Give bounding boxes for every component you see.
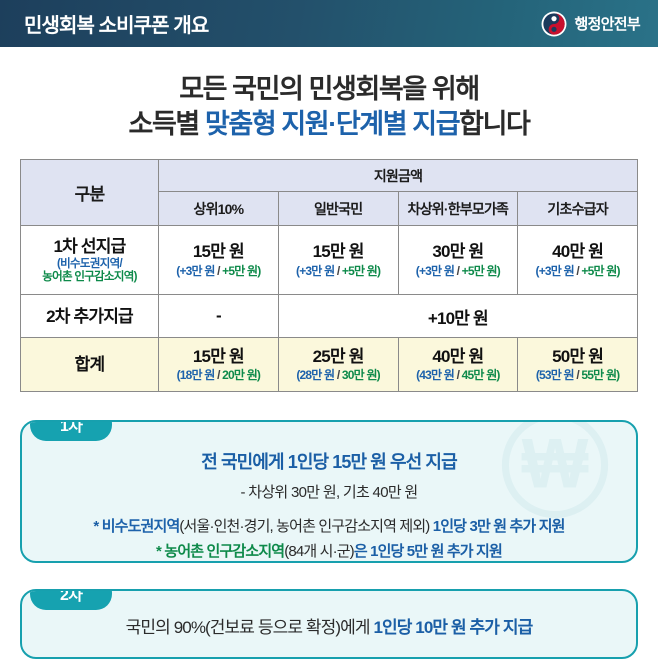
cell-bonus-green: 20만 원)	[222, 368, 260, 382]
cell-bonus-sep: /	[454, 264, 462, 278]
payout-table-wrapper: 구분 지원금액 상위10% 일반국민 차상위·한부모가족 기초수급자 1차 선지…	[20, 159, 638, 392]
cell-bonus-blue: (18만 원	[177, 368, 215, 382]
cell-first-payment-3: 40만 원 (+3만 원 / +5만 원)	[518, 226, 638, 295]
cell-bonus-sep: /	[334, 368, 342, 382]
cell-bonus-green: +5만 원)	[581, 264, 619, 278]
cell-bonus-blue: (+3만 원	[416, 264, 454, 278]
cell-amount: 40만 원	[400, 347, 517, 367]
table-head: 구분 지원금액 상위10% 일반국민 차상위·한부모가족 기초수급자	[21, 160, 638, 226]
row-label-total: 합계	[21, 338, 159, 392]
cell-second-payment-0: -	[159, 295, 279, 338]
cell-amount: 40만 원	[519, 242, 636, 262]
cell-bonus: (53만 원 / 55만 원)	[519, 368, 636, 382]
note-2-region: 농어촌 인구감소지역	[161, 543, 284, 560]
cell-bonus: (+3만 원 / +5만 원)	[400, 264, 517, 278]
table-body: 1차 선지급 (비수도권지역/ 농어촌 인구감소지역) 15만 원 (+3만 원…	[21, 226, 638, 392]
ministry-name: 행정안전부	[574, 13, 640, 34]
table-row-total: 합계 15만 원 (18만 원 / 20만 원) 25만 원 (28만 원 / …	[21, 338, 638, 392]
cell-bonus-blue: (28만 원	[296, 368, 334, 382]
table-header-col-1: 일반국민	[278, 191, 398, 225]
taegeuk-icon	[541, 11, 567, 37]
headline-line-2-accent: 맞춤형 지원·단계별 지급	[205, 109, 459, 139]
row-label-first-payment: 1차 선지급 (비수도권지역/ 농어촌 인구감소지역)	[21, 226, 159, 295]
phase-1-badge: 1차	[30, 420, 112, 441]
table-header-gubun: 구분	[21, 160, 159, 226]
table-row-second-payment: 2차 추가지급 - +10만 원	[21, 295, 638, 338]
ministry-brand: 행정안전부	[541, 11, 640, 37]
cell-bonus: (+3만 원 / +5만 원)	[280, 264, 397, 278]
cell-amount: 30만 원	[400, 242, 517, 262]
cell-bonus: (43만 원 / 45만 원)	[400, 368, 517, 382]
cell-total-2: 40만 원 (43만 원 / 45만 원)	[398, 338, 518, 392]
note-2-detail: (84개 시·군)	[284, 543, 354, 560]
cell-bonus-green: 55만 원)	[581, 368, 619, 382]
note-1-tail: 1인당 3만 원 추가 지원	[429, 518, 564, 535]
phase-2-main-text: 국민의 90%(건보료 등으로 확정)에게 1인당 10만 원 추가 지급	[22, 613, 636, 638]
row-label-sub-blue: (비수도권지역/	[22, 258, 157, 271]
cell-bonus-green: 30만 원)	[342, 368, 380, 382]
cell-total-1: 25만 원 (28만 원 / 30만 원)	[278, 338, 398, 392]
headline-line-2: 소득별 맞춤형 지원·단계별 지급합니다	[0, 107, 658, 142]
note-2-tail: 은 1인당 5만 원 추가 지원	[354, 543, 502, 560]
cell-amount: 15만 원	[160, 242, 277, 262]
cell-bonus-green: +5만 원)	[462, 264, 500, 278]
cell-amount: 50만 원	[519, 347, 636, 367]
cell-bonus-green: +5만 원)	[222, 264, 260, 278]
table-row-first-payment: 1차 선지급 (비수도권지역/ 농어촌 인구감소지역) 15만 원 (+3만 원…	[21, 226, 638, 295]
cell-bonus: (+3만 원 / +5만 원)	[160, 264, 277, 278]
phase-2-badge: 2차	[30, 589, 112, 610]
cell-bonus-blue: (+3만 원	[536, 264, 574, 278]
cell-bonus: (+3만 원 / +5만 원)	[519, 264, 636, 278]
cell-bonus: (18만 원 / 20만 원)	[160, 368, 277, 382]
phase-1-sub-text: - 차상위 30만 원, 기초 40만 원	[22, 481, 636, 502]
cell-amount: 15만 원	[160, 347, 277, 367]
cell-bonus-blue: (43만 원	[416, 368, 454, 382]
row-label-second-payment: 2차 추가지급	[21, 295, 159, 338]
cell-first-payment-2: 30만 원 (+3만 원 / +5만 원)	[398, 226, 518, 295]
page-header: 민생회복 소비쿠폰 개요 행정안전부	[0, 0, 658, 47]
headline-line-1: 모든 국민의 민생회복을 위해	[0, 72, 658, 107]
table-header-amount-span: 지원금액	[159, 160, 638, 192]
phase-2-text-strong: 1인당 10만 원 추가 지급	[373, 618, 532, 637]
cell-bonus: (28만 원 / 30만 원)	[280, 368, 397, 382]
cell-second-payment-span: +10만 원	[278, 295, 637, 338]
cell-bonus-green: +5만 원)	[342, 264, 380, 278]
phase-2-card: 2차 국민의 90%(건보료 등으로 확정)에게 1인당 10만 원 추가 지급	[20, 589, 638, 659]
row-label-sub-green: 농어촌 인구감소지역)	[22, 271, 157, 284]
cell-bonus-sep: /	[454, 368, 462, 382]
phase-1-note-2: * 농어촌 인구감소지역(84개 시·군)은 1인당 5만 원 추가 지원	[22, 540, 636, 561]
cell-first-payment-1: 15만 원 (+3만 원 / +5만 원)	[278, 226, 398, 295]
cell-total-0: 15만 원 (18만 원 / 20만 원)	[159, 338, 279, 392]
page-title: 민생회복 소비쿠폰 개요	[24, 9, 208, 38]
cell-bonus-sep: /	[334, 264, 342, 278]
phase-1-body: 전 국민에게 1인당 15만 원 우선 지급 - 차상위 30만 원, 기초 4…	[22, 422, 636, 561]
cell-bonus-blue: (53만 원	[536, 368, 574, 382]
table-header-col-0: 상위10%	[159, 191, 279, 225]
cell-bonus-blue: (+3만 원	[176, 264, 214, 278]
phase-1-card: 1차 ₩ 전 국민에게 1인당 15만 원 우선 지급 - 차상위 30만 원,…	[20, 420, 638, 563]
cell-bonus-blue: (+3만 원	[296, 264, 334, 278]
headline-block: 모든 국민의 민생회복을 위해 소득별 맞춤형 지원·단계별 지급합니다	[0, 72, 658, 141]
note-1-detail: (서울·인천·경기, 농어촌 인구감소지역 제외)	[179, 518, 429, 535]
payout-table: 구분 지원금액 상위10% 일반국민 차상위·한부모가족 기초수급자 1차 선지…	[20, 159, 638, 392]
table-header-col-2: 차상위·한부모가족	[398, 191, 518, 225]
table-header-col-3: 기초수급자	[518, 191, 638, 225]
headline-line-2-pre: 소득별	[129, 109, 205, 139]
cell-amount: 15만 원	[280, 242, 397, 262]
note-1-region: 비수도권지역	[98, 518, 179, 535]
phase-2-text-pre: 국민의 90%(건보료 등으로 확정)에게	[126, 618, 374, 637]
table-head-row-1: 구분 지원금액	[21, 160, 638, 192]
phase-1-main-text: 전 국민에게 1인당 15만 원 우선 지급	[22, 448, 636, 474]
phase-1-note-1: * 비수도권지역(서울·인천·경기, 농어촌 인구감소지역 제외) 1인당 3만…	[22, 515, 636, 536]
row-label-main: 1차 선지급	[54, 237, 126, 256]
headline-line-2-post: 합니다	[459, 109, 529, 139]
cell-bonus-green: 45만 원)	[462, 368, 500, 382]
cell-first-payment-0: 15만 원 (+3만 원 / +5만 원)	[159, 226, 279, 295]
cell-total-3: 50만 원 (53만 원 / 55만 원)	[518, 338, 638, 392]
phase-2-body: 국민의 90%(건보료 등으로 확정)에게 1인당 10만 원 추가 지급	[22, 591, 636, 638]
cell-amount: 25만 원	[280, 347, 397, 367]
